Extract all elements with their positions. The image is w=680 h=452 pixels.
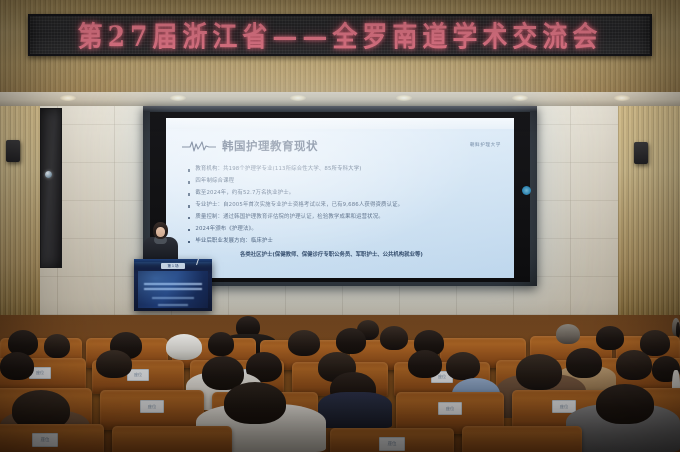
audience-head (408, 350, 442, 378)
list-item: 专业护士：自2005年首次实施专业护士资格考试以来，已有9,686人获得资质认证… (188, 202, 500, 209)
projector-light-spot (522, 186, 531, 195)
list-item: 截至2024年，约有52.7万名执业护士。 (188, 190, 500, 197)
table-row[interactable]: 座位 (100, 390, 204, 430)
lectern-banner-line (152, 297, 194, 299)
lectern-banner-line (158, 304, 188, 306)
table-row[interactable] (462, 426, 582, 452)
downlight-icon (170, 95, 186, 101)
slide-bullet-list: 教育机构：共198个护理学专业(113所综合性大学、85所专科大学) 四年制综合… (188, 166, 500, 258)
audience-head (616, 350, 652, 380)
audience-head (224, 382, 286, 424)
downlight-icon (60, 95, 76, 101)
lectern-banner-line (144, 288, 202, 290)
wall-speaker-icon (634, 142, 648, 164)
list-item: 质量控制：通过韩国护理教育评估院的护理认证，检验教学成果和运营状况。 (188, 214, 500, 221)
audience-head-cap (166, 334, 202, 360)
wall-speaker-icon (6, 140, 20, 162)
audience-head (516, 354, 562, 390)
lectern: 第 1 场 (134, 259, 212, 311)
audience-head (208, 332, 234, 356)
audience-head (596, 384, 654, 424)
ceiling-soffit (0, 92, 680, 106)
list-item: 教育机构：共198个护理学专业(113所综合性大学、85所专科大学) (188, 166, 500, 173)
lectern-top-edge (134, 259, 212, 262)
downlight-icon (614, 95, 630, 101)
table-row[interactable]: 座位 (330, 428, 454, 452)
lectern-banner-line (144, 283, 202, 285)
door-knob-icon (45, 171, 52, 178)
list-item: 毕业后职业发展方向：临床护士 (188, 238, 500, 245)
bullet-dot-icon (188, 217, 190, 219)
led-banner: 第27届浙江省——全罗南道学术交流会 (28, 14, 652, 56)
seat-number-label: 座位 (32, 433, 58, 447)
downlight-icon (290, 95, 306, 101)
bullet-dot-icon (188, 205, 190, 207)
audience-head (596, 326, 624, 350)
audience-head (446, 352, 480, 380)
bullet-text: 四年制综合课程 (195, 178, 234, 185)
audience-head (336, 328, 366, 354)
bullet-text: 截至2024年，约有52.7万名执业护士。 (195, 190, 294, 197)
auditorium-photo: 第27届浙江省——全罗南道学术交流会 韩国护理教育现状 朝鲜护理大 (0, 0, 680, 452)
audience-head (380, 326, 408, 350)
slide-logo-text: 朝鲜护理大学 (470, 142, 501, 148)
audience-head (0, 352, 34, 380)
lectern-nameplate: 第 1 场 (161, 263, 185, 269)
bullet-text: 教育机构：共198个护理学专业(113所综合性大学、85所专科大学) (195, 166, 361, 173)
slide-header: 韩国护理教育现状 (182, 138, 318, 154)
lectern-banner (138, 271, 208, 308)
downlight-icon (396, 95, 412, 101)
seat-number-label: 座位 (552, 400, 576, 413)
bullet-text: 毕业后职业发展方向：临床护士 (195, 238, 273, 245)
downlight-icon (512, 95, 528, 101)
list-item: 2024年颁布《护理法》。 (188, 226, 500, 233)
bullet-text: 2024年颁布《护理法》。 (195, 226, 257, 233)
bullet-dot-icon (188, 193, 190, 195)
left-stage-door[interactable] (40, 108, 62, 268)
bullet-dot-icon (188, 181, 190, 183)
slide-top-strip (166, 118, 514, 129)
left-wood-slat-wall (0, 106, 40, 315)
bullet-dot-icon (188, 229, 190, 231)
bullet-text: 专业护士：自2005年首次实施专业护士资格考试以来，已有9,686人获得资质认证… (195, 202, 403, 209)
bullet-text: 质量控制：通过韩国护理教育评估院的护理认证，检验教学成果和运营状况。 (195, 214, 383, 221)
audience-head (556, 324, 580, 344)
presentation-slide[interactable]: 韩国护理教育现状 朝鲜护理大学 教育机构：共198个护理学专业(113所综合性大… (166, 118, 514, 278)
ecg-waveform-icon (182, 140, 216, 152)
speaker-face (156, 227, 165, 237)
slide-title: 韩国护理教育现状 (222, 138, 318, 154)
audience-head (96, 350, 132, 378)
seat-number-label: 座位 (379, 437, 405, 451)
bullet-dot-icon (188, 241, 190, 243)
audience-head (288, 330, 320, 356)
list-item: 四年制综合课程 (188, 178, 500, 185)
right-wood-slat-wall (618, 106, 680, 315)
audience-head (566, 348, 602, 378)
bullet-dot-icon (188, 169, 190, 171)
table-row[interactable] (112, 426, 232, 452)
seat-number-label: 座位 (438, 402, 462, 415)
seat-number-label: 座位 (140, 400, 164, 413)
audience-head (44, 334, 70, 358)
slide-sub-line: 各类社区护士(保健教师、保健诊疗专职公务员、军职护士、公共机构就业等) (240, 250, 500, 258)
led-banner-text: 第27届浙江省——全罗南道学术交流会 (78, 15, 603, 55)
audience-shoulders (318, 392, 392, 428)
table-row[interactable]: 座位 (0, 424, 104, 452)
